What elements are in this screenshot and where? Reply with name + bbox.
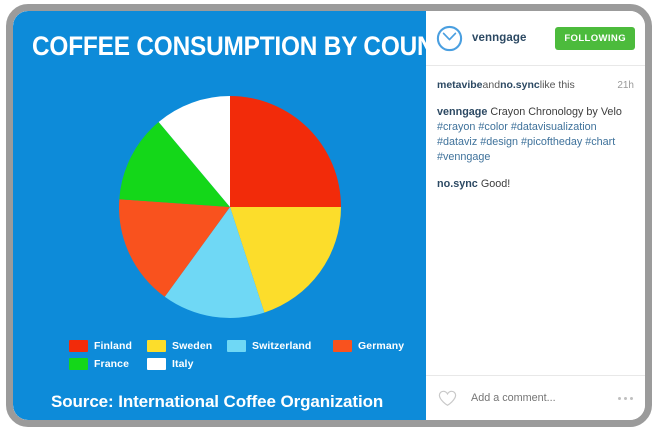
- legend-item-germany: Germany: [333, 338, 409, 353]
- social-post-panel: venngage FOLLOWING metavibe and no.sync …: [426, 11, 645, 420]
- pie-slice-finland: [230, 96, 341, 207]
- legend-swatch-italy: [147, 358, 166, 370]
- likes-conjunction: and: [483, 79, 501, 91]
- post-caption: venngage Crayon Chronology by Velo #cray…: [437, 105, 634, 165]
- heart-icon[interactable]: [438, 390, 458, 407]
- likes-row: metavibe and no.sync like this 21h: [437, 79, 634, 91]
- legend-swatch-sweden: [147, 340, 166, 352]
- legend-label-finland: Finland: [94, 340, 132, 352]
- device-frame: COFFEE CONSUMPTION BY COUNTRY FinlandSwe…: [6, 4, 652, 427]
- following-button[interactable]: FOLLOWING: [555, 27, 635, 50]
- legend-item-france: France: [69, 356, 147, 371]
- dot: [624, 397, 627, 400]
- legend-label-france: France: [94, 358, 129, 370]
- post-header: venngage FOLLOWING: [426, 11, 645, 66]
- pie-chart-svg: [116, 93, 344, 321]
- source-caption: Source: International Coffee Organizatio…: [51, 392, 383, 412]
- dot: [618, 397, 621, 400]
- chart-legend: FinlandSwedenSwitzerlandGermanyFranceIta…: [69, 338, 409, 374]
- legend-item-sweden: Sweden: [147, 338, 227, 353]
- post-timestamp: 21h: [617, 80, 634, 91]
- legend-label-sweden: Sweden: [172, 340, 212, 352]
- infographic-panel: COFFEE CONSUMPTION BY COUNTRY FinlandSwe…: [13, 11, 426, 420]
- legend-item-italy: Italy: [147, 356, 207, 371]
- dot: [630, 397, 633, 400]
- username-label[interactable]: venngage: [472, 32, 526, 44]
- page-title: COFFEE CONSUMPTION BY COUNTRY: [32, 33, 382, 60]
- legend-swatch-switzerland: [227, 340, 246, 352]
- comment-author[interactable]: no.sync: [437, 178, 478, 190]
- likes-suffix: like this: [540, 79, 575, 91]
- legend-label-italy: Italy: [172, 358, 194, 370]
- legend-label-switzerland: Switzerland: [252, 340, 311, 352]
- caption-text: Crayon Chronology by Velo: [490, 106, 621, 118]
- more-options-icon[interactable]: [618, 397, 633, 400]
- comment-text: Good!: [481, 178, 510, 190]
- legend-item-finland: Finland: [69, 338, 147, 353]
- liker-one[interactable]: metavibe: [437, 79, 483, 91]
- liker-two[interactable]: no.sync: [500, 79, 540, 91]
- screen-content: COFFEE CONSUMPTION BY COUNTRY FinlandSwe…: [13, 11, 645, 420]
- caption-hashtags[interactable]: #crayon #color #datavisualization #datav…: [437, 121, 615, 163]
- legend-swatch-france: [69, 358, 88, 370]
- comment-item: no.sync Good!: [437, 177, 634, 192]
- add-comment-input[interactable]: [469, 391, 618, 405]
- legend-swatch-finland: [69, 340, 88, 352]
- legend-item-switzerland: Switzerland: [227, 338, 333, 353]
- comment-bar: [426, 375, 645, 420]
- caption-author[interactable]: venngage: [437, 106, 487, 118]
- legend-swatch-germany: [333, 340, 352, 352]
- pie-chart: [116, 93, 344, 321]
- post-body: metavibe and no.sync like this 21h venng…: [426, 66, 645, 375]
- avatar[interactable]: [436, 25, 463, 52]
- venngage-logo-icon: [436, 25, 463, 52]
- legend-label-germany: Germany: [358, 340, 404, 352]
